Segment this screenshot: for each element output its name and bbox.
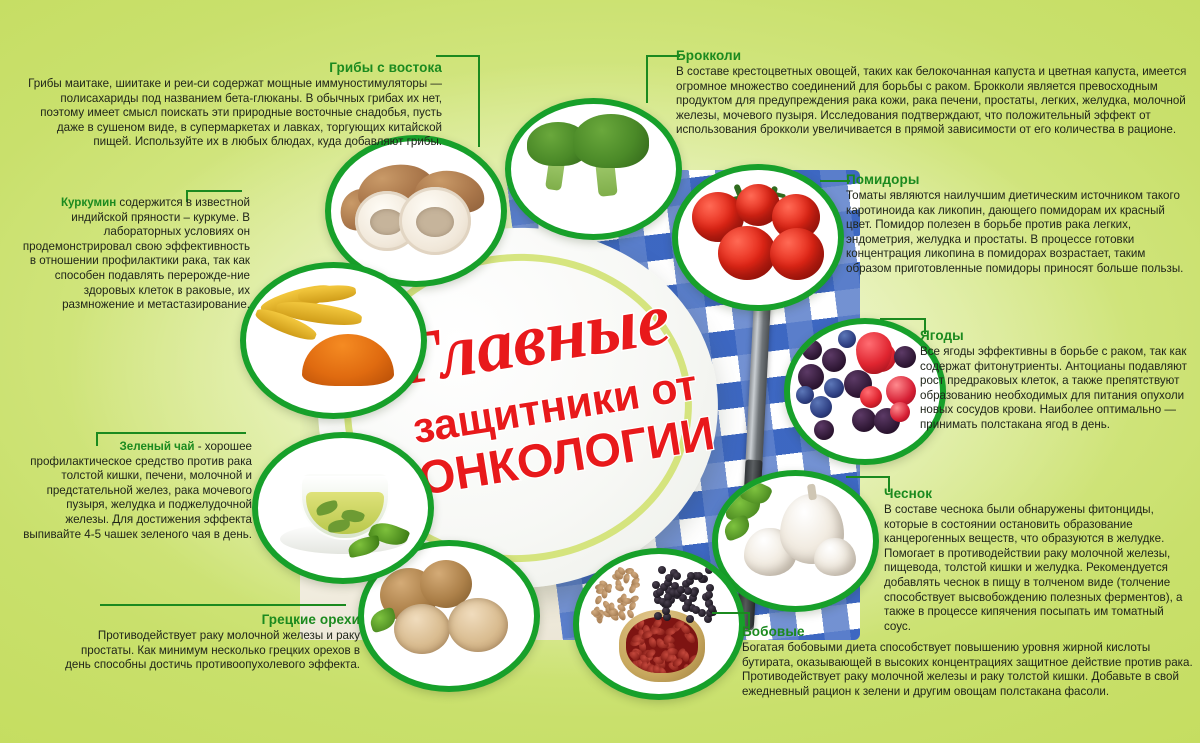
berry-item [814,420,834,440]
berry-item [822,348,846,372]
section-beans: Бобовые Богатая бобовыми диета способств… [742,624,1194,699]
section-beans-heading: Бобовые [742,624,1194,639]
section-walnuts-heading: Грецкие орехи [62,612,360,627]
connector-curcumin-h [186,190,242,192]
berry-item [890,402,910,422]
section-green-tea-body: Зеленый чай - хорошее профилактическое с… [22,440,252,542]
bean-item [664,600,672,608]
connector-mushrooms-v [478,55,480,147]
section-tomatoes-heading: Помидоры [846,172,1188,187]
section-mushrooms-body: Грибы маитаке, шиитаке и реи-си содержат… [22,77,442,150]
broccoli-photo [505,98,682,240]
bean-item [673,572,681,580]
section-green-tea-heading: Зеленый чай [120,440,195,453]
bean-item [705,591,713,599]
bean-item [658,566,666,574]
tomatoes-photo [672,164,844,311]
section-curcumin-heading: Куркумин [61,196,116,209]
section-mushrooms-heading: Грибы с востока [22,60,442,75]
connector-tea-h [96,432,246,434]
beans-photo [573,548,745,700]
berry-item [796,386,814,404]
section-tomatoes-body: Томаты являются наилучшим диетическим ис… [846,189,1188,277]
section-berries-body: Все ягоды эффективны в борьбе с раком, т… [920,345,1190,433]
poster-title: Главные защитники от ОНКОЛОГИИ [388,292,760,500]
section-broccoli-body: В составе крестоцветных овощей, таких ка… [676,65,1188,138]
section-curcumin: Куркумин содержится в известной индийско… [20,196,250,313]
berry-item [894,346,916,368]
connector-garlic-h [846,476,890,478]
bean-item [677,586,685,594]
section-mushrooms: Грибы с востока Грибы маитаке, шиитаке и… [22,60,442,150]
connector-berry-h [880,318,926,320]
berry-item [860,386,882,408]
section-walnuts: Грецкие орехи Противодействует раку моло… [62,612,360,673]
section-curcumin-text: содержится в известной индийской пряност… [23,196,250,311]
connector-walnuts [100,604,346,606]
connector-mushrooms [436,55,480,57]
bean-item [647,636,657,649]
section-curcumin-body: Куркумин содержится в известной индийско… [20,196,250,313]
connector-beans-h [712,612,750,614]
bean-item [705,566,713,574]
berry-item [802,340,822,360]
section-broccoli: Брокколи В составе крестоцветных овощей,… [676,48,1188,138]
bean-item [682,604,690,612]
section-green-tea: Зеленый чай - хорошее профилактическое с… [22,440,252,542]
green-tea-photo [252,432,434,584]
bean-item [628,584,637,595]
bean-item [656,588,664,596]
berry-item [824,378,844,398]
section-berries-heading: Ягоды [920,328,1190,343]
connector-broccoli-v [646,55,648,103]
section-green-tea-text: - хорошее профилактическое средство прот… [23,440,252,541]
infographic-poster: Главные защитники от ОНКОЛОГИИ [0,0,1200,743]
berry-item [852,408,876,432]
section-garlic: Чеснок В составе чеснока были обнаружены… [884,486,1190,634]
turmeric-photo [240,262,427,419]
berry-item [838,330,856,348]
section-walnuts-body: Противодействует раку молочной железы и … [62,629,360,673]
section-garlic-body: В составе чеснока были обнаружены фитонц… [884,503,1190,634]
connector-broccoli [646,55,680,57]
berry-item [810,396,832,418]
section-tomatoes: Помидоры Томаты являются наилучшим диети… [846,172,1188,277]
section-garlic-heading: Чеснок [884,486,1190,501]
bean-item [615,584,626,593]
section-broccoli-heading: Брокколи [676,48,1188,63]
bean-item [682,664,692,673]
section-beans-body: Богатая бобовыми диета способствует повы… [742,641,1194,699]
section-berries: Ягоды Все ягоды эффективны в борьбе с ра… [920,328,1190,433]
